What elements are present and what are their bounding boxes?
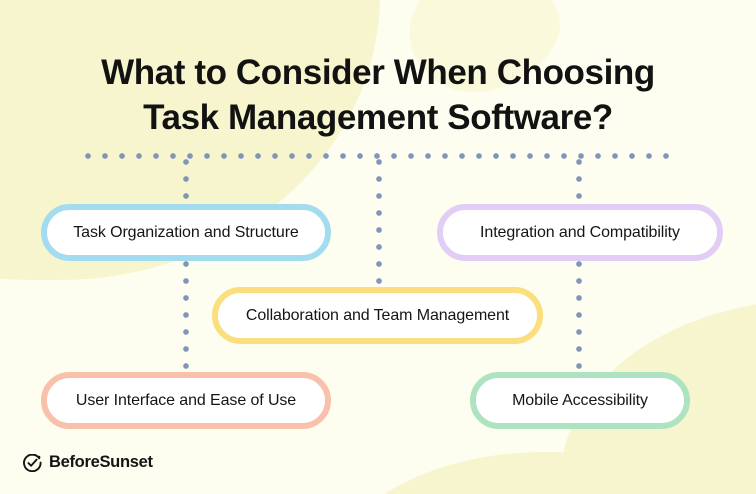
page-title: What to Consider When Choosing Task Mana… (0, 50, 756, 140)
node-integration-and-compatibility[interactable]: Integration and Compatibility (437, 204, 723, 261)
node-label: Task Organization and Structure (73, 224, 298, 242)
arc-check-icon (22, 454, 44, 472)
page-title-line-2: Task Management Software? (0, 95, 756, 140)
node-collaboration-and-team-management[interactable]: Collaboration and Team Management (212, 287, 543, 344)
brand-logo-text: BeforeSunset (49, 453, 153, 472)
background-blob-bottom-yellow (330, 452, 756, 494)
node-label: User Interface and Ease of Use (76, 392, 296, 410)
connector-branch-center (376, 159, 382, 289)
node-mobile-accessibility[interactable]: Mobile Accessibility (470, 372, 690, 429)
node-user-interface-and-ease-of-use[interactable]: User Interface and Ease of Use (41, 372, 331, 429)
brand-logo: BeforeSunset (22, 453, 153, 472)
connector-branch-right (576, 159, 582, 375)
page-title-line-1: What to Consider When Choosing (0, 50, 756, 95)
node-task-organization-and-structure[interactable]: Task Organization and Structure (41, 204, 331, 261)
infographic-canvas: What to Consider When Choosing Task Mana… (0, 0, 756, 494)
connector-branch-left (183, 159, 189, 375)
node-label: Mobile Accessibility (512, 392, 648, 410)
node-label: Integration and Compatibility (480, 224, 680, 242)
node-label: Collaboration and Team Management (246, 307, 509, 325)
